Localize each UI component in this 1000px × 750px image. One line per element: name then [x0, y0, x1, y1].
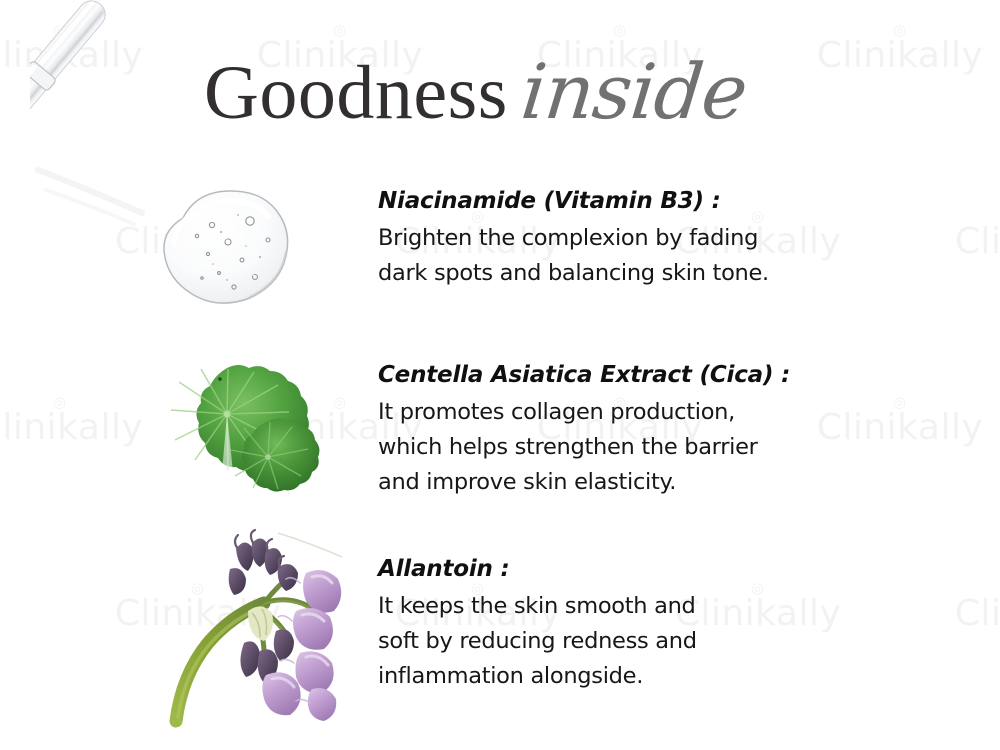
- ingredient-block-centella: Centella Asiatica Extract (Cica) : It pr…: [378, 358, 790, 500]
- watermark-text: Clinikally: [0, 224, 18, 260]
- watermark-text: Clinikally: [0, 596, 18, 632]
- serum-gel-blob-icon: [150, 180, 310, 310]
- ingredient-description: Brighten the complexion by fading dark s…: [378, 221, 769, 291]
- watermark-clinikally: ◎Clinikally: [938, 582, 1000, 632]
- watermark-logo-icon: ◎: [800, 24, 1000, 38]
- watermark-logo-icon: ◎: [0, 210, 18, 224]
- watermark-clinikally: ◎Clinikally: [800, 24, 1000, 74]
- watermark-text: Clinikally: [0, 410, 160, 446]
- title-accent: inside: [518, 52, 751, 132]
- watermark-text: Clinikally: [938, 224, 1000, 260]
- watermark-logo-icon: ◎: [800, 396, 1000, 410]
- watermark-text: Clinikally: [938, 596, 1000, 632]
- watermark-clinikally: ◎Clinikally: [800, 396, 1000, 446]
- ingredient-description: It promotes collagen production, which h…: [378, 395, 790, 500]
- ingredient-name: Allantoin :: [378, 552, 697, 586]
- watermark-clinikally: ◎Clinikally: [0, 210, 18, 260]
- watermark-logo-icon: ◎: [938, 582, 1000, 596]
- watermark-logo-icon: ◎: [520, 24, 720, 38]
- page-title: Goodnessinside: [204, 52, 746, 133]
- ingredient-block-allantoin: Allantoin : It keeps the skin smooth and…: [378, 552, 697, 694]
- title-primary: Goodness: [204, 51, 508, 135]
- ingredient-block-niacinamide: Niacinamide (Vitamin B3) : Brighten the …: [378, 184, 769, 291]
- watermark-clinikally: ◎Clinikally: [938, 210, 1000, 260]
- watermark-text: Clinikally: [800, 38, 1000, 74]
- watermark-logo-icon: ◎: [0, 396, 160, 410]
- watermark-clinikally: ◎Clinikally: [0, 582, 18, 632]
- ingredient-name: Niacinamide (Vitamin B3) :: [378, 184, 769, 218]
- ingredient-name: Centella Asiatica Extract (Cica) :: [378, 358, 790, 392]
- comfrey-flower-icon: [160, 525, 375, 730]
- ingredient-description: It keeps the skin smooth and soft by red…: [378, 589, 697, 694]
- watermark-logo-icon: ◎: [0, 582, 18, 596]
- watermark-clinikally: ◎Clinikally: [0, 396, 160, 446]
- watermark-logo-icon: ◎: [938, 210, 1000, 224]
- centella-leaf-icon: [165, 352, 365, 517]
- watermark-text: Clinikally: [800, 410, 1000, 446]
- infographic-canvas: ◎Clinikally◎Clinikally◎Clinikally◎Clinik…: [0, 0, 1000, 750]
